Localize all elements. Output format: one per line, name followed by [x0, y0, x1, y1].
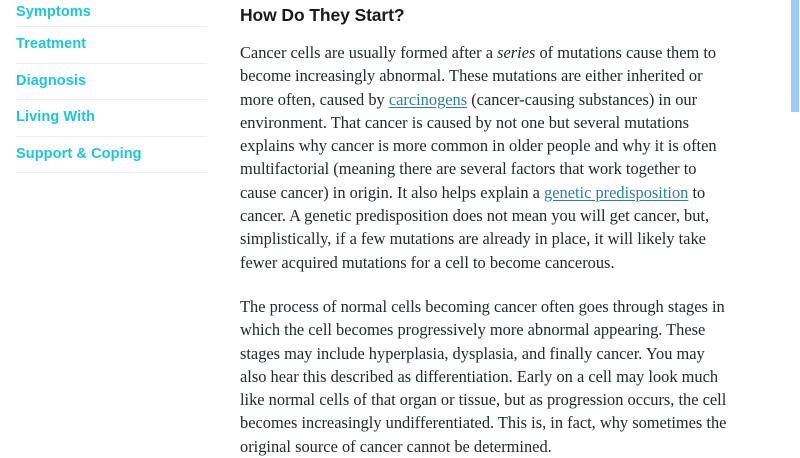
nav-item[interactable]: Treatment — [16, 27, 207, 64]
paragraph-text: The process of normal cells becoming can… — [240, 297, 726, 456]
article-content: How Do They Start? Cancer cells are usua… — [208, 0, 768, 458]
sidebar-item-support-coping[interactable]: Support & Coping — [16, 137, 207, 173]
paragraph-text: Cancer cells are usually formed after a — [240, 43, 497, 62]
emphasis-text: series — [497, 43, 535, 62]
article-page: SymptomsTreatmentDiagnosisLiving WithSup… — [0, 0, 800, 428]
inline-link-genetic-predisposition[interactable]: genetic predisposition — [544, 183, 688, 202]
article-section-nav: SymptomsTreatmentDiagnosisLiving WithSup… — [0, 0, 208, 173]
nav-item[interactable]: Diagnosis — [16, 64, 207, 101]
nav-item[interactable]: Symptoms — [16, 0, 207, 27]
article-body: Cancer cells are usually formed after a … — [240, 41, 734, 458]
article-paragraph: The process of normal cells becoming can… — [240, 295, 734, 458]
nav-item[interactable]: Living With — [16, 100, 207, 137]
inline-link-carcinogens[interactable]: carcinogens — [389, 90, 467, 109]
sidebar-item-living-with[interactable]: Living With — [16, 100, 207, 136]
sidebar-item-symptoms[interactable]: Symptoms — [16, 5, 91, 29]
article-paragraph: Cancer cells are usually formed after a … — [240, 41, 734, 274]
sidebar-item-treatment[interactable]: Treatment — [16, 27, 207, 63]
scrollbar-thumb[interactable] — [791, 0, 799, 112]
nav-item[interactable]: Support & Coping — [16, 137, 207, 174]
page-title: How Do They Start? — [240, 0, 734, 26]
nav-list: SymptomsTreatmentDiagnosisLiving WithSup… — [16, 0, 207, 173]
sidebar-item-diagnosis[interactable]: Diagnosis — [16, 64, 207, 100]
page-scrollbar[interactable] — [786, 0, 800, 428]
